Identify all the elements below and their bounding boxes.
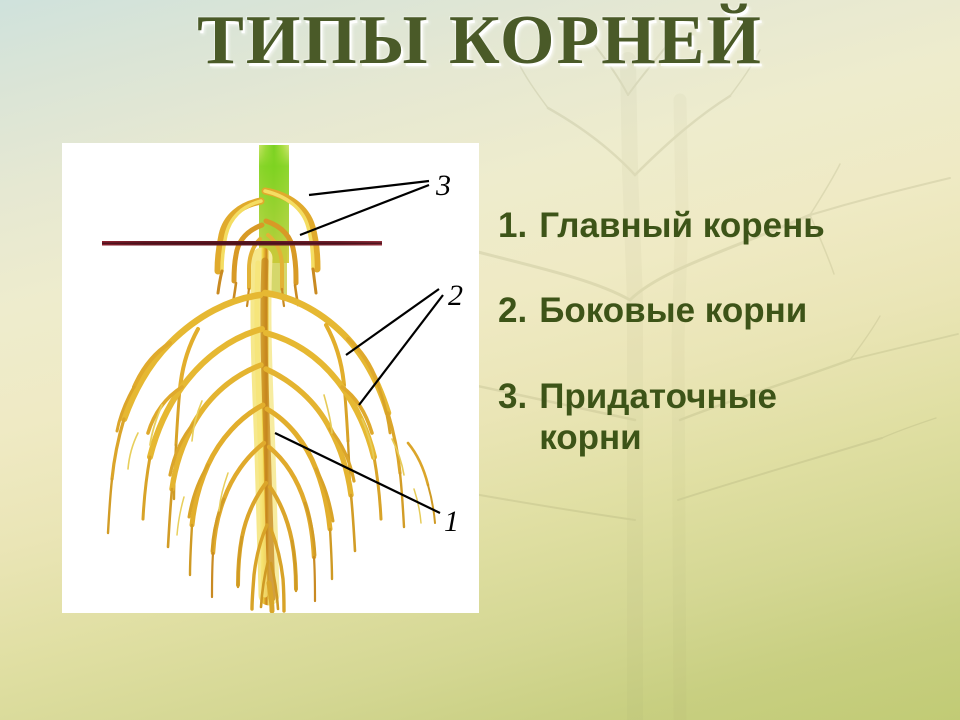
diagram-label-2: 2: [448, 279, 463, 312]
legend-item-3-label: Придаточные корни: [539, 376, 859, 459]
legend-item-2-number: 2.: [498, 290, 539, 331]
root-types-legend: 1. Главный корень 2. Боковые корни 3. Пр…: [498, 205, 938, 458]
legend-item-2-label: Боковые корни: [539, 290, 938, 331]
legend-item-1-label: Главный корень: [539, 205, 938, 246]
legend-item-3: 3. Придаточные корни: [498, 376, 938, 459]
legend-item-1-number: 1.: [498, 205, 539, 246]
legend-item-1: 1. Главный корень: [498, 205, 938, 246]
root-diagram-illustration: 3 2 1: [62, 143, 479, 613]
soil-surface-line: [102, 241, 382, 246]
legend-item-3-number: 3.: [498, 376, 539, 417]
slide-title: ТИПЫ КОРНЕЙ: [0, 4, 960, 78]
slide-root: ТИПЫ КОРНЕЙ: [0, 0, 960, 720]
root-diagram-panel: 3 2 1: [62, 143, 479, 613]
diagram-label-3: 3: [435, 169, 451, 202]
diagram-label-1: 1: [444, 505, 459, 538]
legend-item-2: 2. Боковые корни: [498, 290, 938, 331]
main-taproot: [257, 258, 272, 611]
